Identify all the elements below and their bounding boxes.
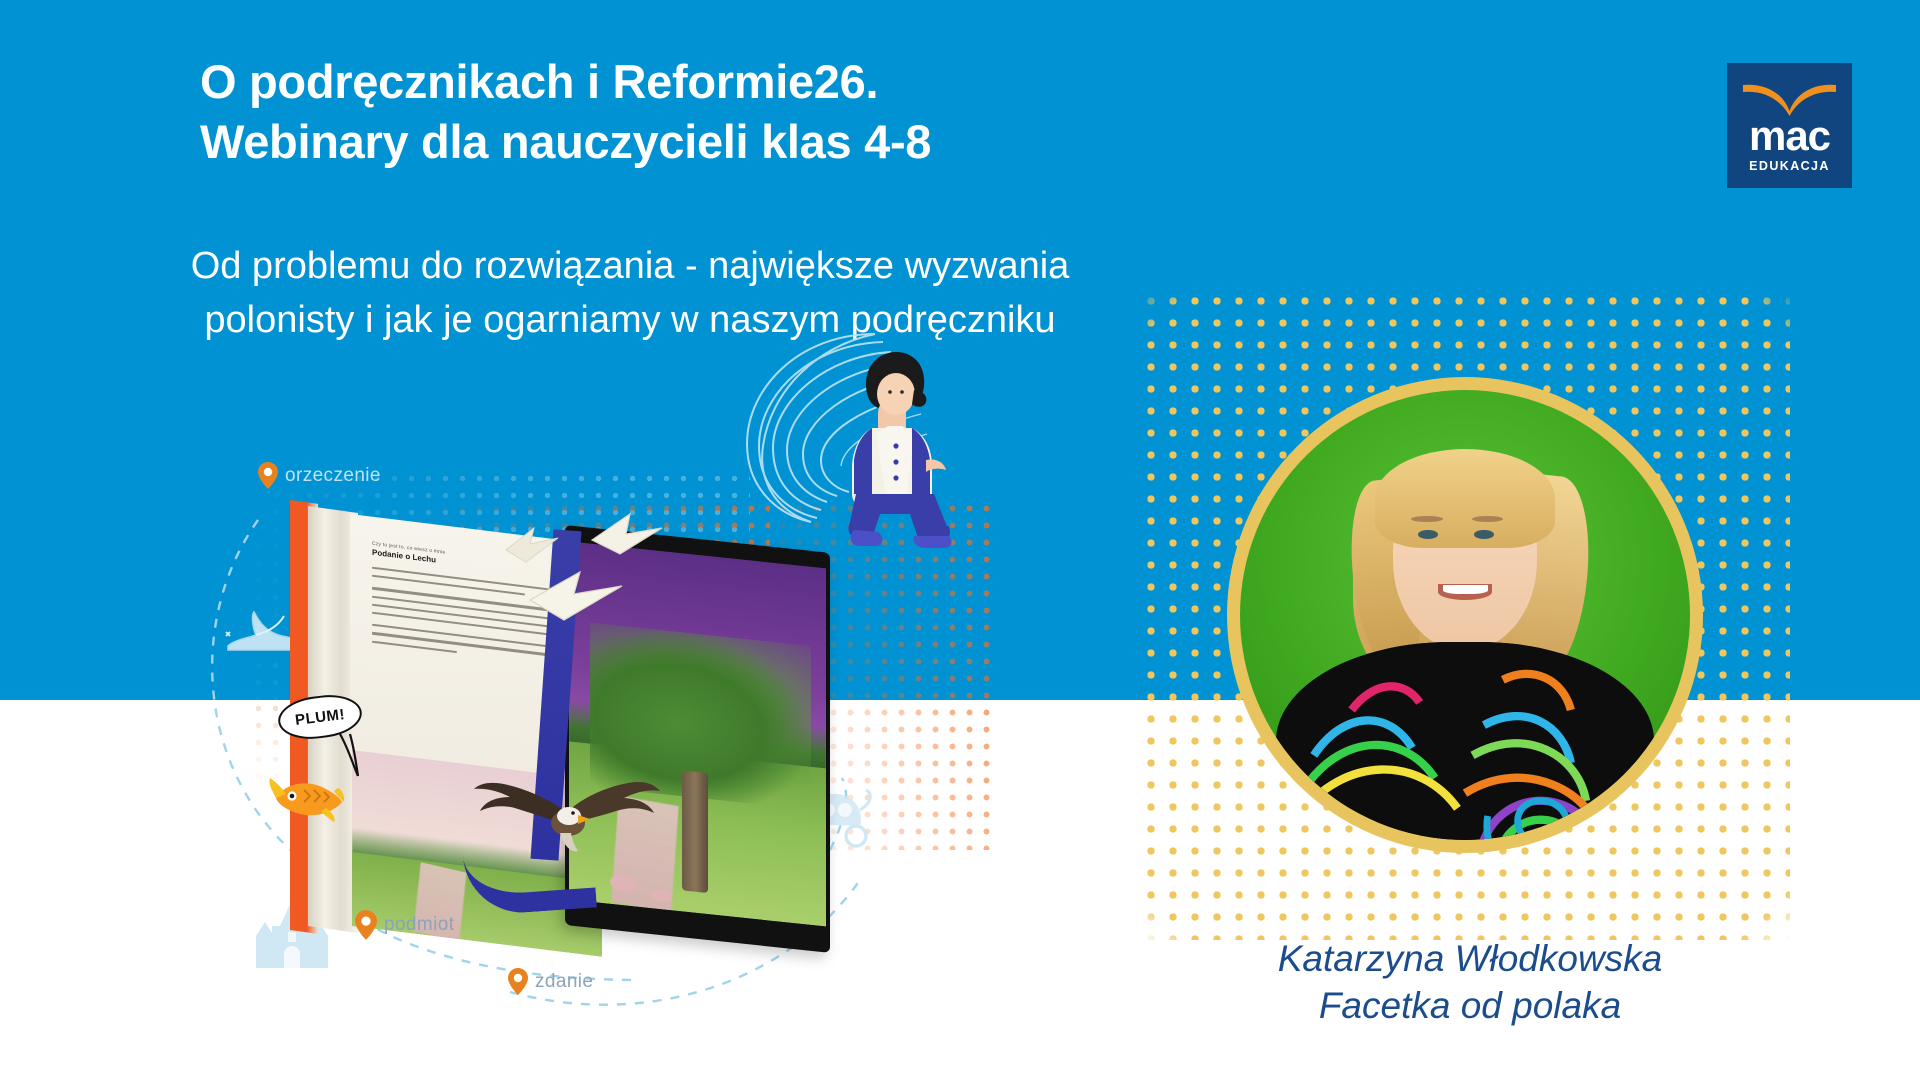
page-title: O podręcznikach i Reformie26. Webinary d… xyxy=(200,52,1250,172)
pin-podmiot: podmiot xyxy=(355,910,454,940)
pin-label: zdanie xyxy=(535,971,593,993)
map-pin-icon xyxy=(258,462,278,489)
page-subtitle: Od problemu do rozwiązania - największe … xyxy=(70,240,1190,348)
pattern-hoodie-icon xyxy=(1276,642,1654,840)
map-pin-icon xyxy=(355,910,377,940)
title-line-2: Webinary dla nauczycieli klas 4-8 xyxy=(200,112,1250,172)
speaker-clothing xyxy=(1276,642,1654,840)
goldfish-icon xyxy=(268,772,346,824)
pin-orzeczenie: orzeczenie xyxy=(258,462,381,489)
boy-character-icon xyxy=(810,338,960,548)
speaker-photo xyxy=(1240,390,1690,840)
open-book-icon: Czy to jest to, co wiesz o mnie Podanie … xyxy=(290,500,850,930)
logo-tagline: EDUKACJA xyxy=(1727,159,1852,173)
subtitle-line-2: polonisty i jak je ogarniamy w naszym po… xyxy=(70,294,1190,348)
pin-zdanie: zdanie xyxy=(508,968,593,995)
eagle-icon xyxy=(472,755,662,865)
subtitle-line-1: Od problemu do rozwiązania - największe … xyxy=(70,240,1190,294)
speaker-info: Katarzyna Włodkowska Facetka od polaka xyxy=(1160,935,1780,1030)
avatar xyxy=(1227,377,1703,853)
webinar-banner: O podręcznikach i Reformie26. Webinary d… xyxy=(0,0,1920,1080)
logo-wordmark: mac xyxy=(1727,115,1852,157)
speech-bubble-text: PLUM! xyxy=(294,706,346,729)
pin-label: podmiot xyxy=(384,914,454,936)
title-line-1: O podręcznikach i Reformie26. xyxy=(200,52,1250,112)
pin-label: orzeczenie xyxy=(285,465,381,487)
speaker-handle: Facetka od polaka xyxy=(1160,982,1780,1029)
mac-edukacja-logo[interactable]: mac EDUKACJA xyxy=(1727,63,1852,188)
paper-bird-icon xyxy=(504,524,560,564)
speaker-name: Katarzyna Włodkowska xyxy=(1160,935,1780,982)
map-pin-icon xyxy=(508,968,528,995)
paper-bird-icon xyxy=(590,510,664,556)
paper-bird-icon xyxy=(528,566,624,622)
